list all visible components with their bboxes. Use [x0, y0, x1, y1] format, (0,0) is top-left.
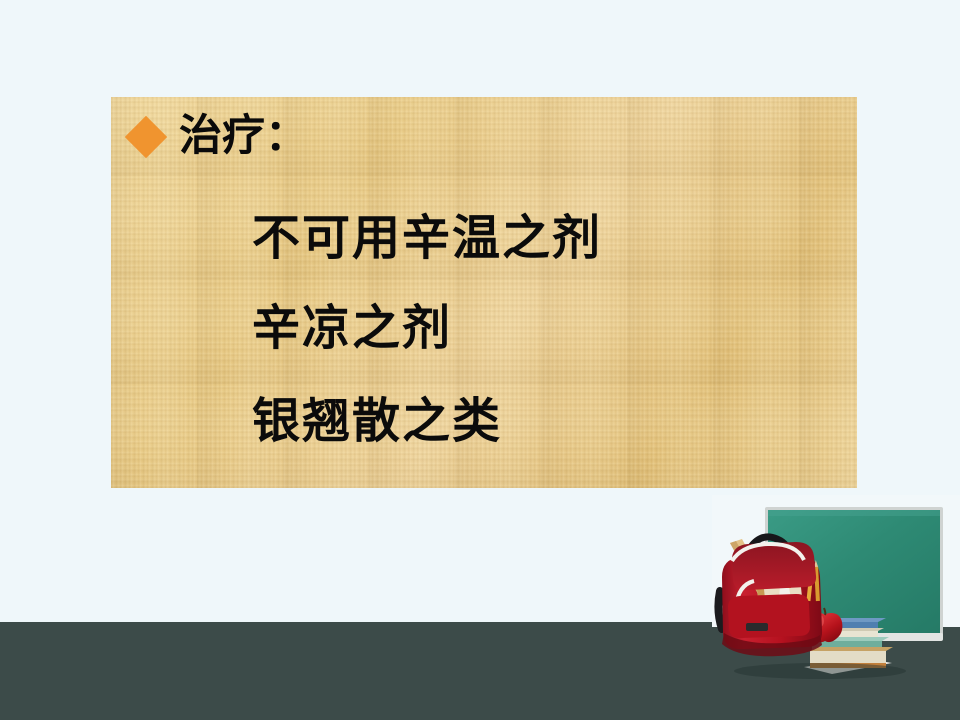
slide-canvas: 治疗： 不可用辛温之剂 辛凉之剂 银翘散之类: [0, 0, 960, 720]
backpack: [718, 537, 822, 656]
school-supplies-photo: [712, 495, 960, 685]
page-title: 治疗：: [179, 115, 308, 158]
content-line-1: 不可用辛温之剂: [252, 214, 602, 262]
bullet-heading-row: 治疗：: [131, 115, 308, 158]
content-line-2: 辛凉之剂: [252, 304, 452, 352]
diamond-bullet-icon: [125, 115, 167, 157]
content-line-3: 银翘散之类: [252, 397, 502, 445]
papyrus-content-panel: 治疗： 不可用辛温之剂 辛凉之剂 银翘散之类: [111, 97, 857, 488]
